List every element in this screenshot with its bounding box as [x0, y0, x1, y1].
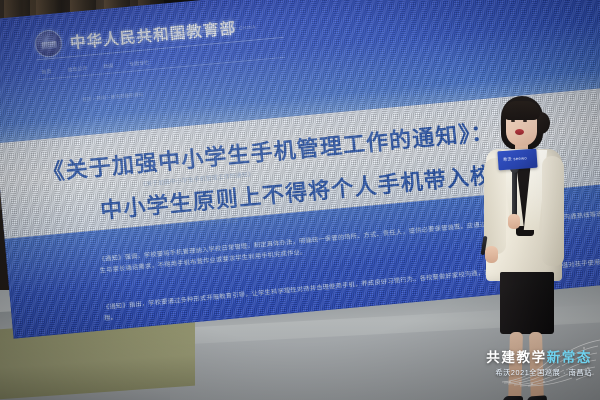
hand-holding-microphone [508, 214, 520, 229]
microphone-flag-label: 希沃 seewo [503, 155, 527, 163]
watermark-title-part1: 共建教学 [486, 350, 546, 365]
watermark-title: 共建教学新常态 [486, 346, 592, 366]
nav-item: 首页 [41, 68, 52, 76]
lips [515, 129, 524, 135]
hair-front [503, 101, 540, 120]
shoe-left [503, 396, 523, 400]
watermark-subtitle: 希沃2021全国巡展 · 南昌站 [486, 368, 592, 378]
event-watermark: 共建教学新常态 希沃2021全国巡展 · 南昌站 [486, 346, 592, 378]
eye-left [511, 120, 515, 122]
shoe-right [527, 395, 548, 400]
hand-lower [485, 246, 498, 263]
national-emblem-icon [34, 29, 63, 58]
arm-left [484, 158, 506, 254]
watermark-title-part2: 新常态 [547, 350, 592, 365]
stage-photo: 中华人民共和国教育部 THE MINISTRY OF EDUCATION OF … [0, 0, 600, 400]
microphone-flag: 希沃 seewo [497, 149, 537, 171]
black-skirt [500, 272, 554, 334]
arm-right [542, 156, 564, 266]
eye-right [523, 120, 527, 122]
nav-item: 新闻 [103, 62, 114, 70]
